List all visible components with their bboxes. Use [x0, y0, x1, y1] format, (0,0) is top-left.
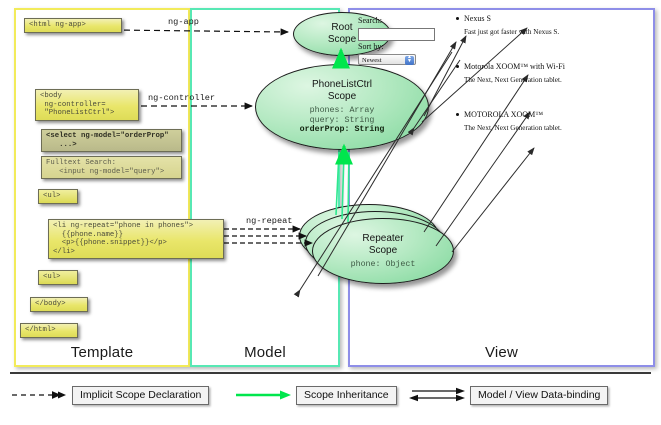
search-input[interactable] — [358, 28, 435, 41]
code-ul-open: <ul> — [38, 189, 78, 204]
phone-name: Motorola XOOM™ with Wi-Fi — [464, 62, 644, 71]
code-html-close: </html> — [20, 323, 78, 338]
edge-label-ng-controller: ng-controller — [148, 93, 215, 103]
panel-view-label: View — [350, 344, 653, 361]
legend-label: Implicit Scope Declaration — [72, 386, 209, 405]
double-arrow-icon — [408, 386, 466, 403]
scope-repeater-title: Repeater Scope — [362, 233, 403, 257]
panel-model: Model — [190, 8, 340, 367]
phone-name: Nexus S — [464, 14, 644, 23]
scope-repeater: Repeater Scope phone: Object — [312, 218, 454, 284]
bullet-icon — [456, 113, 459, 116]
code-select-tag: <select ng-model="orderProp" ...> — [41, 129, 182, 152]
edge-label-ng-repeat: ng-repeat — [246, 216, 292, 226]
legend: Implicit Scope Declaration Scope Inherit… — [0, 372, 661, 425]
sort-select-value: Newest — [362, 57, 382, 64]
phone-snippet: The Next, Next Generation tablet. — [464, 76, 644, 84]
legend-divider — [10, 372, 651, 374]
dashed-arrow-icon — [10, 386, 68, 403]
code-search-tag: Fulltext Search: <input ng-model="query"… — [41, 156, 182, 179]
phone-list-item[interactable]: Nexus S Fast just got faster with Nexus … — [464, 14, 644, 36]
scope-root-title: Root Scope — [328, 22, 356, 46]
code-ul-close: <ul> — [38, 270, 78, 285]
legend-label: Model / View Data-binding — [470, 386, 608, 405]
code-html-tag: <html ng-app> — [24, 18, 122, 33]
panel-template: Template — [14, 8, 190, 367]
chevron-updown-icon: ▲▼ — [405, 56, 414, 65]
sort-label: Sort by: — [358, 42, 384, 51]
code-body-tag: <body ng-controller= "PhoneListCtrl"> — [35, 89, 139, 121]
green-arrow-icon — [234, 386, 292, 403]
search-label: Search: — [358, 16, 382, 25]
diagram-canvas: Template Model View <html ng-app> <body … — [0, 0, 661, 425]
phone-list-item[interactable]: Motorola XOOM™ with Wi-Fi The Next, Next… — [464, 62, 644, 84]
phone-name: MOTOROLA XOOM™ — [464, 110, 644, 119]
scope-repeater-props: phone: Object — [351, 260, 416, 270]
panel-template-label: Template — [16, 344, 188, 361]
view-browser-render: Search: Sort by: Newest ▲▼ Nexus S Fast … — [356, 14, 646, 134]
bullet-icon — [456, 65, 459, 68]
legend-label: Scope Inheritance — [296, 386, 397, 405]
code-li-repeat: <li ng-repeat="phone in phones"> {{phone… — [48, 219, 224, 259]
sort-select[interactable]: Newest ▲▼ — [358, 54, 416, 65]
code-body-close: </body> — [30, 297, 88, 312]
bullet-icon — [456, 17, 459, 20]
phone-list-item[interactable]: MOTOROLA XOOM™ The Next, Next Generation… — [464, 110, 644, 132]
panel-model-label: Model — [192, 344, 338, 361]
phone-snippet: Fast just got faster with Nexus S. — [464, 28, 644, 36]
phone-snippet: The Next, Next Generation tablet. — [464, 124, 644, 132]
edge-label-ng-app: ng-app — [168, 17, 199, 27]
